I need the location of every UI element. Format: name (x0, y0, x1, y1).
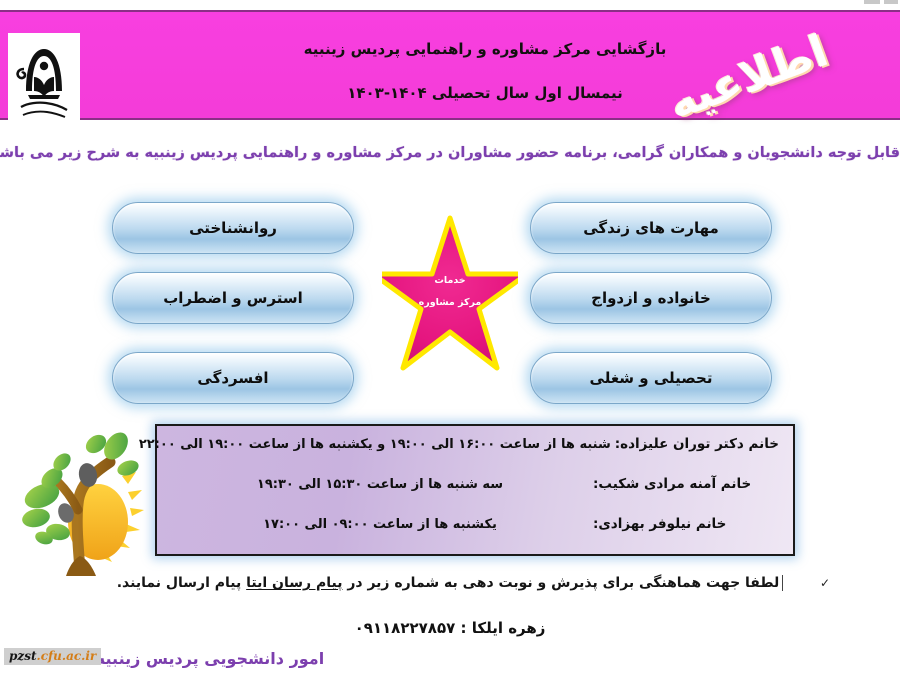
counselor-name: خانم نیلوفر بهزادی: (589, 516, 779, 532)
counselor-name: خانم دکتر توران علیزاده: (611, 436, 779, 452)
counselor-hours: یکشنبه ها از ساعت ۰۹:۰۰ الی ۱۷:۰۰ (171, 517, 589, 532)
intro-paragraph: قابل توجه دانشجویان و همکاران گرامی، برن… (0, 145, 900, 161)
watermark-part2: .cfu.ac.ir (37, 649, 97, 663)
contact-phone-row: زهره ایلکا : ۰۹۱۱۸۲۲۷۸۵۷ (0, 618, 900, 637)
note-text-emphasis: پیام رسان ایتا (246, 575, 342, 591)
table-row: خانم نیلوفر بهزادی: یکشنبه ها از ساعت ۰۹… (171, 516, 779, 556)
counselor-hours: سه شنبه ها از ساعت ۱۵:۳۰ الی ۱۹:۳۰ (171, 477, 589, 492)
counselor-hours: شنبه ها از ساعت ۱۶:۰۰ الی ۱۹:۰۰ و یکشنبه… (139, 437, 611, 452)
contact-note-text: لطفا جهت هماهنگی برای پذیرش و نوبت دهی ب… (117, 575, 784, 591)
university-logo (8, 33, 80, 125)
note-text-before: لطفا جهت هماهنگی برای پذیرش و نوبت دهی ب… (342, 575, 779, 591)
tree-people-sun-icon (18, 418, 156, 580)
contact-note-row: ✓ لطفا جهت هماهنگی برای پذیرش و نوبت دهی… (0, 572, 900, 591)
service-pill-family-marriage[interactable]: خانواده و ازدواج (530, 272, 772, 324)
service-pill-depression[interactable]: افسردگی (112, 352, 354, 404)
service-pill-label: مهارت های زندگی (583, 219, 719, 237)
header-title-group: بازگشایی مرکز مشاوره و راهنمایی پردیس زی… (270, 36, 700, 106)
tree-illustration (18, 418, 156, 580)
counselors-schedule-box: خانم دکتر توران علیزاده: شنبه ها از ساعت… (155, 424, 795, 556)
note-text-after: پیام ارسال نمایند. (117, 575, 246, 591)
site-watermark: pzst.cfu.ac.ir (4, 648, 101, 665)
announcement-banner-word: اطلاعیه (660, 30, 860, 126)
page-subtitle-semester: نیمسال اول سال تحصیلی ۱۴۰۴-۱۴۰۳ (270, 80, 700, 106)
table-row: خانم دکتر توران علیزاده: شنبه ها از ساعت… (171, 436, 779, 476)
farhangian-university-logo-icon (8, 33, 80, 125)
check-icon: ✓ (820, 576, 830, 590)
page-title: بازگشایی مرکز مشاوره و راهنمایی پردیس زی… (270, 36, 700, 62)
table-row: خانم آمنه مرادی شکیب: سه شنبه ها از ساعت… (171, 476, 779, 516)
top-grey-mark (864, 0, 880, 4)
service-pill-life-skills[interactable]: مهارت های زندگی (530, 202, 772, 254)
service-pill-stress-anxiety[interactable]: استرس و اضطراب (112, 272, 354, 324)
bottom-white-strip (0, 671, 900, 675)
top-grey-mark (884, 0, 898, 4)
service-pill-label: روانشناختی (189, 219, 277, 237)
poster-canvas: بازگشایی مرکز مشاوره و راهنمایی پردیس زی… (0, 0, 900, 675)
service-pill-psychological[interactable]: روانشناختی (112, 202, 354, 254)
center-star: خدمات مرکز مشاوره (382, 212, 518, 382)
announcement-banner-text: اطلاعیه (662, 25, 834, 129)
header-band: بازگشایی مرکز مشاوره و راهنمایی پردیس زی… (0, 10, 900, 120)
watermark-part1: pzst (9, 649, 37, 663)
counselor-name: خانم آمنه مرادی شکیب: (589, 476, 779, 492)
contact-phone: زهره ایلکا : ۰۹۱۱۸۲۲۷۸۵۷ (355, 619, 546, 637)
service-pill-label: استرس و اضطراب (163, 289, 303, 307)
service-pill-label: خانواده و ازدواج (591, 289, 711, 307)
service-pill-academic-career[interactable]: تحصیلی و شغلی (530, 352, 772, 404)
service-pill-label: تحصیلی و شغلی (590, 369, 713, 387)
top-white-strip (0, 0, 900, 8)
star-icon (382, 212, 518, 382)
service-pill-label: افسردگی (197, 369, 268, 387)
